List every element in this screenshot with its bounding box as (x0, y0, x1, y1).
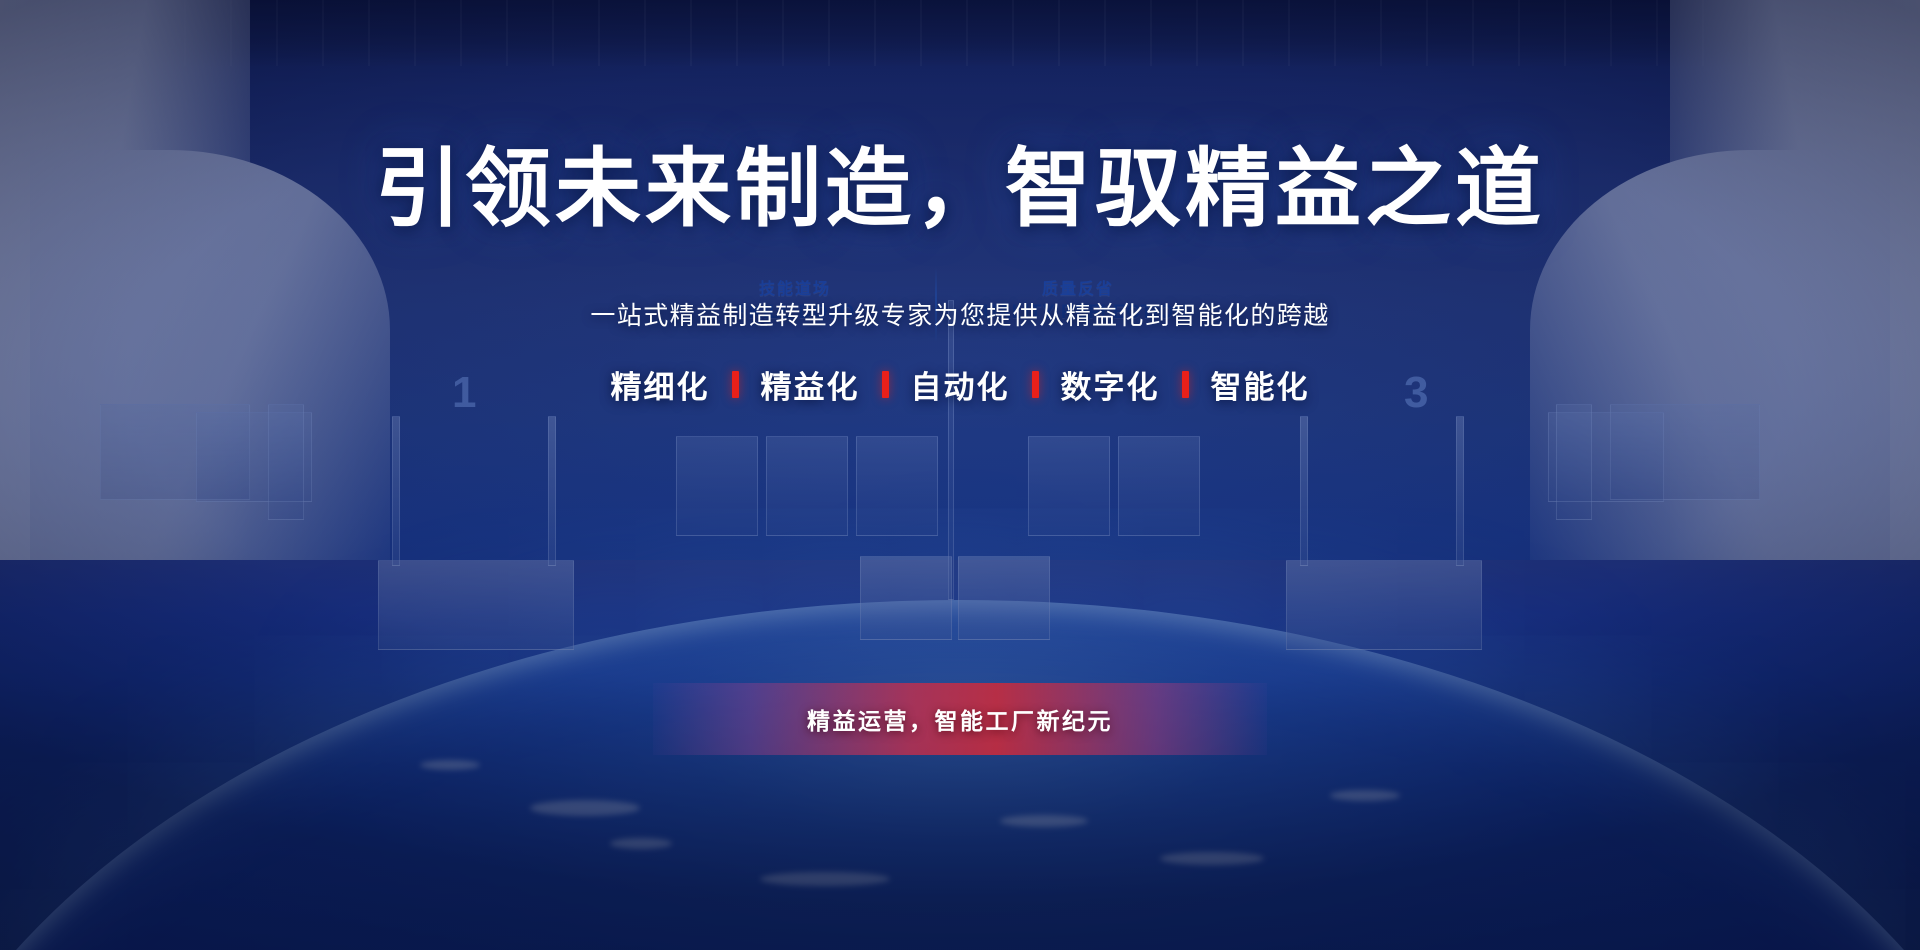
tagline-ribbon: 精益运营，智能工厂新纪元 (653, 683, 1267, 755)
keyword-item-zhinenghua: 智能化 (1189, 362, 1332, 407)
page-title: 引领未来制造，智驭精益之道 (375, 146, 1545, 232)
keyword-separator-bar-icon (1182, 371, 1189, 398)
keyword-separator-bar-icon (1032, 371, 1039, 398)
keyword-separator-bar-icon (732, 371, 739, 398)
tagline-text: 精益运营，智能工厂新纪元 (807, 702, 1113, 736)
keyword-list: 精细化 精益化 自动化 数字化 智能化 (589, 362, 1332, 407)
keyword-separator-bar-icon (882, 371, 889, 398)
hero-banner: 技能道场 SKILL DOJO 质量反省 QUALITY REFLECTION … (0, 0, 1920, 950)
hero-content: 引领未来制造，智驭精益之道 一站式精益制造转型升级专家为您提供从精益化到智能化的… (0, 0, 1920, 950)
hero-subtitle: 一站式精益制造转型升级专家为您提供从精益化到智能化的跨越 (590, 296, 1329, 332)
keyword-item-jingyihua: 精益化 (739, 362, 882, 407)
keyword-item-shuzihua: 数字化 (1039, 362, 1182, 407)
keyword-item-jingxihua: 精细化 (589, 362, 732, 407)
keyword-item-zidonghua: 自动化 (889, 362, 1032, 407)
